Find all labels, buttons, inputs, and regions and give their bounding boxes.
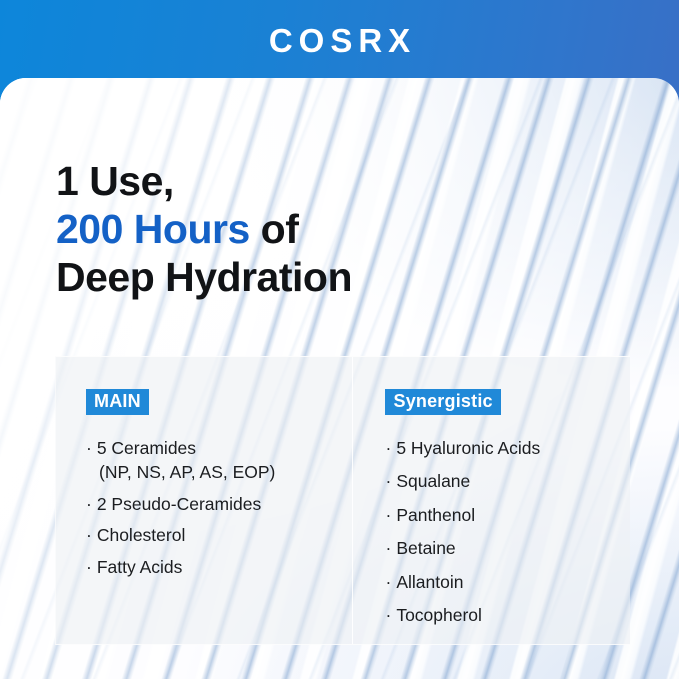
list-item: ·Fatty Acids	[86, 556, 352, 578]
headline-line-2-rest: of	[250, 206, 299, 252]
bullet-icon: ·	[385, 572, 391, 592]
ingredient-column-synergistic: Synergistic ·5 Hyaluronic Acids ·Squalan…	[352, 357, 630, 644]
list-item: ·Betaine	[385, 537, 630, 559]
list-item-label: Betaine	[396, 538, 455, 558]
bullet-icon: ·	[385, 505, 391, 525]
brand-header: COSRX	[0, 0, 679, 80]
page-title: 1 Use, 200 Hours of Deep Hydration	[56, 158, 352, 302]
list-item-label: Fatty Acids	[97, 557, 183, 577]
list-item: ·Squalane	[385, 470, 630, 492]
list-item: ·Tocopherol	[385, 604, 630, 626]
bullet-icon: ·	[385, 538, 391, 558]
list-item: ·Cholesterol	[86, 524, 352, 546]
list-item-label: Tocopherol	[396, 605, 482, 625]
list-item-label: 5 Hyaluronic Acids	[396, 438, 540, 458]
headline-line-3: Deep Hydration	[56, 254, 352, 302]
list-item: ·5 Ceramides	[86, 437, 352, 459]
list-item: ·Allantoin	[385, 571, 630, 593]
badge-main: MAIN	[86, 389, 149, 415]
list-item-label: 5 Ceramides	[97, 438, 196, 458]
bullet-icon: ·	[385, 438, 391, 458]
list-item: ·2 Pseudo-Ceramides	[86, 493, 352, 515]
ingredient-list-synergistic: ·5 Hyaluronic Acids ·Squalane ·Panthenol…	[385, 437, 630, 626]
headline-line-2: 200 Hours of	[56, 206, 352, 254]
list-item-label: Panthenol	[396, 505, 475, 525]
list-item-label: Cholesterol	[97, 525, 186, 545]
list-item-label: Allantoin	[396, 572, 463, 592]
headline-line-1: 1 Use,	[56, 158, 352, 206]
list-item-label: 2 Pseudo-Ceramides	[97, 494, 261, 514]
bullet-icon: ·	[385, 605, 391, 625]
bullet-icon: ·	[385, 471, 391, 491]
list-item-detail: (NP, NS, AP, AS, EOP)	[86, 461, 352, 483]
headline-accent: 200 Hours	[56, 206, 250, 252]
list-item-label: Squalane	[396, 471, 470, 491]
product-infographic: COSRX 1 Use, 200 Hours of Deep Hydration…	[0, 0, 679, 679]
bullet-icon: ·	[86, 557, 92, 577]
list-item: ·5 Hyaluronic Acids	[385, 437, 630, 459]
ingredient-panel: MAIN ·5 Ceramides (NP, NS, AP, AS, EOP) …	[55, 356, 630, 645]
brand-logo: COSRX	[263, 24, 416, 57]
bullet-icon: ·	[86, 494, 92, 514]
bullet-icon: ·	[86, 438, 92, 458]
badge-synergistic: Synergistic	[385, 389, 500, 415]
bullet-icon: ·	[86, 525, 92, 545]
ingredient-list-main: ·5 Ceramides (NP, NS, AP, AS, EOP) ·2 Ps…	[86, 437, 352, 578]
ingredient-column-main: MAIN ·5 Ceramides (NP, NS, AP, AS, EOP) …	[56, 357, 352, 644]
list-item: ·Panthenol	[385, 504, 630, 526]
